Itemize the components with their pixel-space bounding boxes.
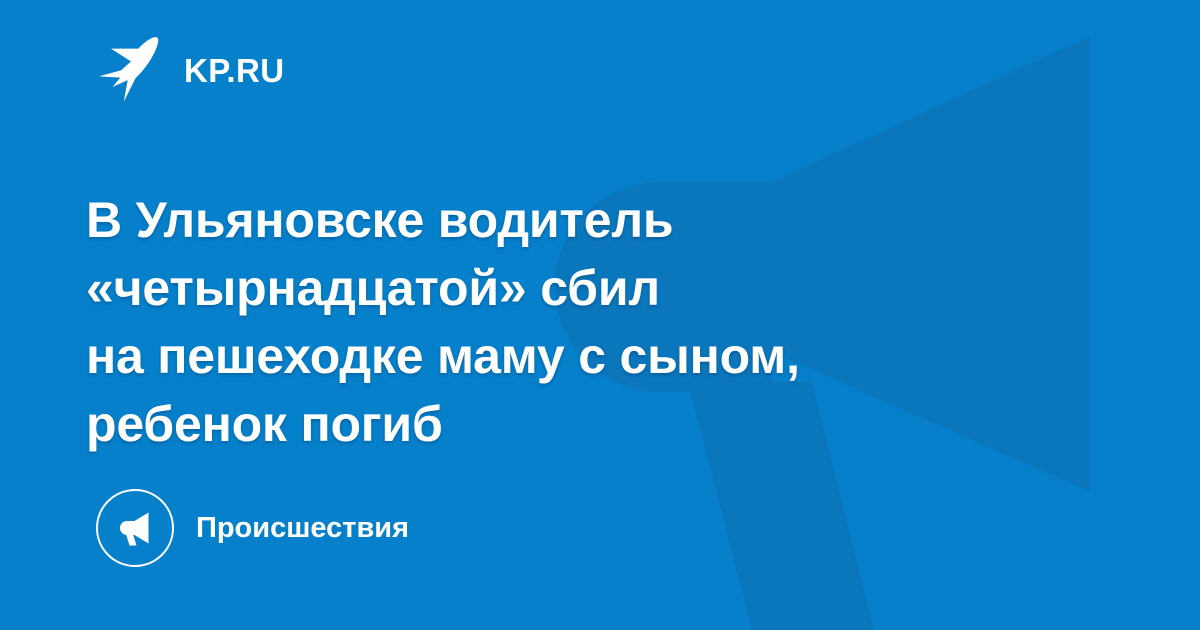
article-share-card: KP.RU В Ульяновске водитель «четырнадцат… xyxy=(0,0,1200,630)
megaphone-icon xyxy=(96,489,174,567)
headline-line-2: «четырнадцатой» сбил xyxy=(86,254,986,322)
headline-line-3: на пешеходке маму с сыном, xyxy=(86,322,986,390)
site-header: KP.RU xyxy=(88,36,284,104)
category-label: Происшествия xyxy=(196,514,409,543)
headline-line-1: В Ульяновске водитель xyxy=(86,186,986,254)
swallow-bird-icon xyxy=(88,37,162,103)
site-wordmark: KP.RU xyxy=(184,54,284,87)
headline-line-4: ребенок погиб xyxy=(86,390,986,458)
category-badge[interactable]: Происшествия xyxy=(96,486,409,570)
article-headline: В Ульяновске водитель «четырнадцатой» сб… xyxy=(86,186,986,458)
